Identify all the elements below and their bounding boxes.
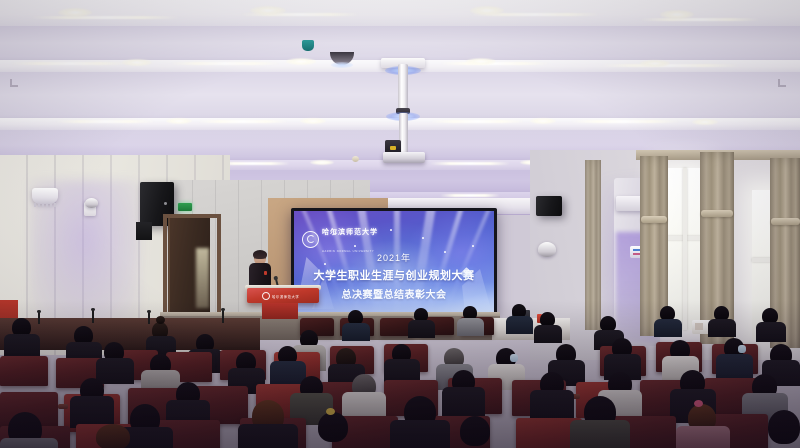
auditorium-photo: 哈尔滨师范大学 HARBIN NORMAL UNIVERSITY 2021年 大… xyxy=(0,0,800,448)
door-light-spill xyxy=(196,248,209,308)
wall-monitor-right xyxy=(536,196,562,216)
audience-body xyxy=(654,319,682,337)
audience-head xyxy=(768,410,800,444)
curtain-tieback-1 xyxy=(641,216,667,223)
audience-body xyxy=(676,426,730,448)
speaker-bracket-left xyxy=(136,222,152,240)
curtain-tieback-2 xyxy=(701,210,733,217)
audience-area xyxy=(0,300,800,448)
wall-light-fixture xyxy=(32,188,58,204)
smoke-detector-glow xyxy=(331,62,353,68)
curtain-tieback-3 xyxy=(771,218,800,225)
audience-body xyxy=(570,420,630,448)
hair-scrunchie-icon xyxy=(326,408,335,415)
audience-body xyxy=(506,316,533,334)
face-mask-icon xyxy=(738,345,746,353)
audience-head xyxy=(460,416,490,446)
university-seal-icon xyxy=(302,231,319,248)
audience-body xyxy=(390,420,450,448)
podium-emblem: 哈尔滨师范大学 xyxy=(262,292,299,300)
audience-body xyxy=(0,438,58,448)
dome-camera-icon xyxy=(85,198,98,208)
audience-head xyxy=(96,424,130,448)
audience-body xyxy=(457,318,484,336)
screen-logo-cn: 哈尔滨师范大学 xyxy=(322,229,378,236)
audience-body xyxy=(238,424,298,448)
led-presentation-screen[interactable]: 哈尔滨师范大学 HARBIN NORMAL UNIVERSITY 2021年 大… xyxy=(294,211,494,313)
audience-body xyxy=(756,322,786,342)
audience-body xyxy=(716,354,753,380)
audience-body xyxy=(408,320,435,338)
audience-head xyxy=(318,412,348,442)
face-mask-icon xyxy=(510,354,518,362)
exit-sign-icon xyxy=(178,203,192,211)
projector-pole-upper xyxy=(398,64,408,114)
audience-body xyxy=(96,358,134,384)
podium-institution-label: 哈尔滨师范大学 xyxy=(272,294,299,299)
dome-camera-right-icon xyxy=(538,242,556,257)
audience-body xyxy=(708,319,736,337)
hair-tie-icon xyxy=(694,400,703,407)
ceiling-projector-icon xyxy=(383,152,425,163)
audience-body xyxy=(442,387,485,419)
projector-adjust-knob xyxy=(390,146,396,150)
audience-body xyxy=(534,325,562,343)
ceiling-sensor-icon xyxy=(302,40,314,51)
podium-seal-icon xyxy=(262,292,270,300)
audience-body xyxy=(342,323,370,341)
